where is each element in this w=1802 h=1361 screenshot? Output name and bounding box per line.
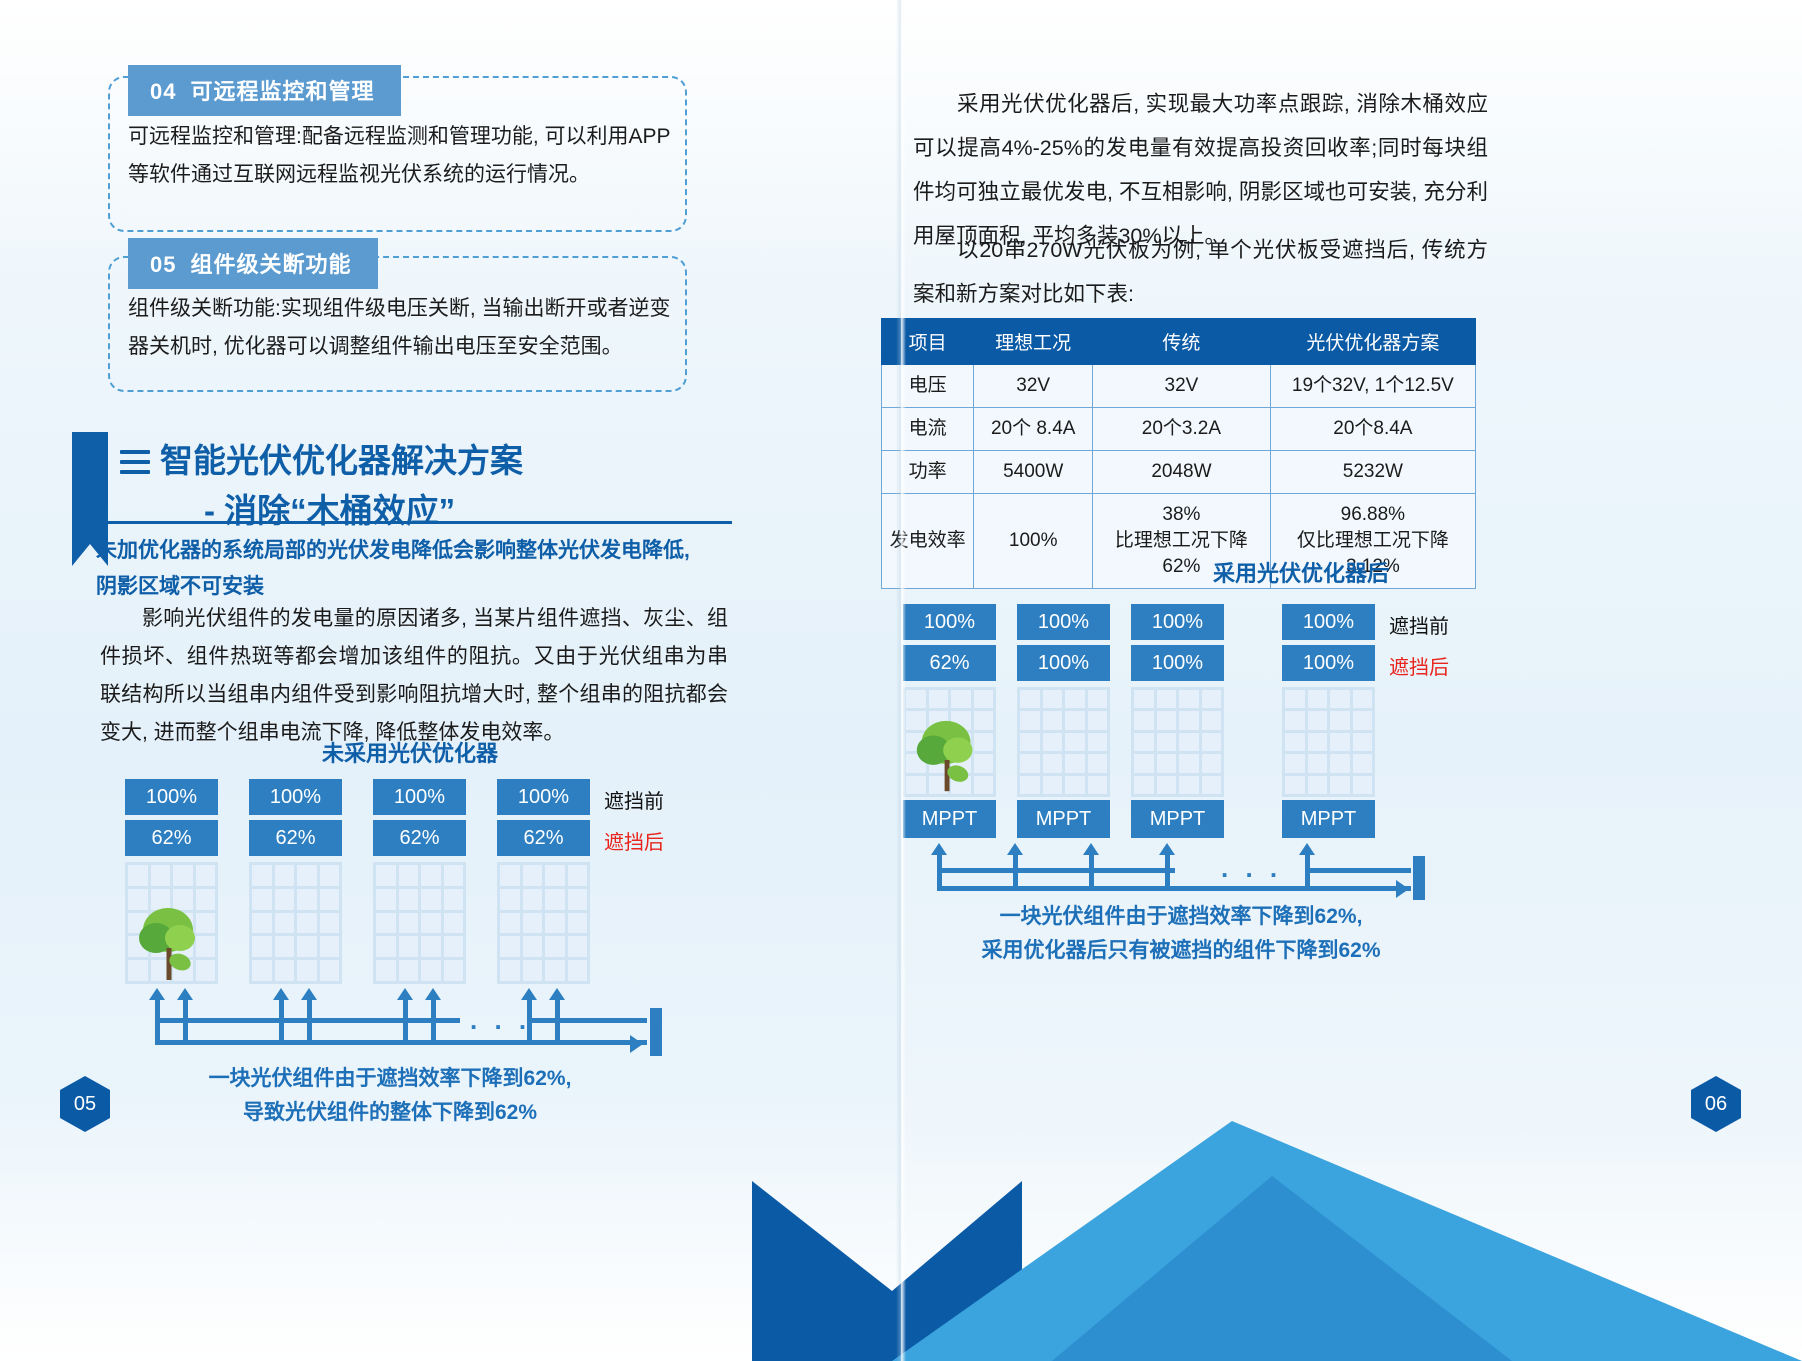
r-chip-before-2: 100% [1017, 604, 1110, 640]
cell-power-traditional: 2048W [1093, 451, 1271, 494]
bus-left-link [155, 1018, 160, 1045]
right-diagram-title: 采用光伏优化器后 [991, 556, 1611, 588]
r-bus-lower [937, 886, 1411, 891]
r-bus-left-link [937, 868, 942, 891]
solar-panel-3 [373, 862, 466, 984]
right-caption-line2: 采用优化器后只有被遮挡的组件下降到62% [901, 934, 1461, 968]
table-header-optimizer: 光伏优化器方案 [1270, 319, 1475, 365]
table-row: 电流 20个 8.4A 20个3.2A 20个8.4A [882, 408, 1476, 451]
right-caption-line1: 一块光伏组件由于遮挡效率下降到62%, [921, 900, 1441, 934]
solar-panel-4 [497, 862, 590, 984]
table-row: 功率 5400W 2048W 5232W [882, 451, 1476, 494]
chip-after-2: 62% [249, 820, 342, 856]
arrow-up-4a [521, 988, 537, 1000]
arrow-up-4b [549, 988, 565, 1000]
feature-card-04-number: 04 [150, 79, 176, 104]
cell-current-optimizer: 20个8.4A [1270, 408, 1475, 451]
cell-current-traditional: 20个3.2A [1093, 408, 1271, 451]
r-arrow-5 [1299, 843, 1315, 855]
section-bar [72, 432, 108, 544]
page-gutter [896, 0, 906, 1361]
cell-voltage-optimizer: 19个32V, 1个12.5V [1270, 365, 1475, 408]
left-caption-line1: 一块光伏组件由于遮挡效率下降到62%, [130, 1062, 650, 1096]
section-paragraph: 影响光伏组件的发电量的原因诸多, 当某片组件遮挡、灰尘、组件损坏、组件热斑等都会… [100, 600, 728, 752]
r-chip-before-1: 100% [903, 604, 996, 640]
r-chip-after-1: 62% [903, 645, 996, 681]
r-bus-upper [937, 868, 1175, 873]
arrow-up-3b [425, 988, 441, 1000]
section-title-line1: 智能光伏优化器解决方案 [160, 434, 523, 482]
bus-upper [155, 1018, 460, 1023]
chip-before-2: 100% [249, 779, 342, 815]
bus-upper-2 [527, 1018, 647, 1023]
section-divider [96, 521, 732, 524]
arrow-up-1b [177, 988, 193, 1000]
arrow-up-1a [149, 988, 165, 1000]
r-bus-upper-2 [1305, 868, 1411, 873]
r-chip-before-3: 100% [1131, 604, 1224, 640]
r-solar-panel-3 [1131, 687, 1224, 797]
table-header-row: 项目 理想工况 传统 光伏优化器方案 [882, 319, 1476, 365]
left-label-after: 遮挡后 [604, 826, 664, 855]
left-diagram-ellipsis: . . . [470, 1005, 531, 1036]
r-arrow-4 [1159, 843, 1175, 855]
left-label-before: 遮挡前 [604, 785, 664, 814]
r-bus-terminal [1413, 856, 1425, 900]
solar-panel-2 [249, 862, 342, 984]
cell-voltage-traditional: 32V [1093, 365, 1271, 408]
table-row: 电压 32V 32V 19个32V, 1个12.5V [882, 365, 1476, 408]
feature-card-04-header: 04可远程监控和管理 [128, 65, 401, 116]
right-diagram-ellipsis: . . . [1221, 853, 1282, 884]
feature-card-05-title: 组件级关断功能 [190, 252, 351, 277]
r-chip-after-4: 100% [1282, 645, 1375, 681]
r-tree-shading-icon [907, 715, 991, 799]
mppt-box-3: MPPT [1131, 800, 1224, 838]
cell-voltage-ideal: 32V [974, 365, 1093, 408]
r-chip-after-3: 100% [1131, 645, 1224, 681]
chip-before-4: 100% [497, 779, 590, 815]
r-solar-panel-4 [1282, 687, 1375, 797]
r-arrow-2 [1007, 843, 1023, 855]
mppt-box-4: MPPT [1282, 800, 1375, 838]
chip-before-1: 100% [125, 779, 218, 815]
arrow-up-3a [397, 988, 413, 1000]
r-chip-before-4: 100% [1282, 604, 1375, 640]
feature-card-04-title: 可远程监控和管理 [190, 79, 374, 104]
chip-after-3: 62% [373, 820, 466, 856]
cell-power-ideal: 5400W [974, 451, 1093, 494]
arrow-up-2a [273, 988, 289, 1000]
r-chip-after-2: 100% [1017, 645, 1110, 681]
table-header-ideal: 理想工况 [974, 319, 1093, 365]
feature-card-05-body: 组件级关断功能:实现组件级电压关断, 当输出断开或者逆变器关机时, 优化器可以调… [128, 290, 673, 366]
cell-power-optimizer: 5232W [1270, 451, 1475, 494]
bus-lower [155, 1040, 647, 1045]
left-diagram-title: 未采用光伏优化器 [160, 736, 660, 768]
feature-card-05-header: 05组件级关断功能 [128, 238, 378, 289]
feature-card-04-body: 可远程监控和管理:配备远程监测和管理功能, 可以利用APP等软件通过互联网远程监… [128, 118, 673, 194]
tree-shading-icon [128, 900, 214, 986]
comparison-table: 项目 理想工况 传统 光伏优化器方案 电压 32V 32V 19个32V, 1个… [881, 318, 1476, 589]
hamburger-icon [120, 450, 150, 480]
mppt-box-1: MPPT [903, 800, 996, 838]
chip-after-4: 62% [497, 820, 590, 856]
r-arrow-1 [931, 843, 947, 855]
bus-terminal [650, 1008, 662, 1056]
chip-after-1: 62% [125, 820, 218, 856]
right-paragraph-2: 以20串270W光伏板为例, 单个光伏板受遮挡后, 传统方案和新方案对比如下表: [913, 228, 1488, 316]
r-bus-arrow-right [1396, 880, 1409, 898]
r-arrow-3 [1083, 843, 1099, 855]
chip-before-3: 100% [373, 779, 466, 815]
section-title-line2: - 消除“木桶效应” [204, 484, 455, 532]
right-label-after: 遮挡后 [1389, 651, 1449, 680]
mppt-box-2: MPPT [1017, 800, 1110, 838]
right-label-before: 遮挡前 [1389, 610, 1449, 639]
left-caption-line2: 导致光伏组件的整体下降到62% [130, 1096, 650, 1130]
decorative-mountain-graphic [752, 1061, 1802, 1361]
r-solar-panel-2 [1017, 687, 1110, 797]
bus-arrow-right [630, 1035, 643, 1053]
arrow-up-2b [301, 988, 317, 1000]
feature-card-05-number: 05 [150, 252, 176, 277]
section-lead-line1: 未加优化器的系统局部的光伏发电降低会影响整体光伏发电降低, [96, 533, 736, 569]
table-header-traditional: 传统 [1093, 319, 1271, 365]
cell-current-ideal: 20个 8.4A [974, 408, 1093, 451]
page-number-left: 05 [60, 1076, 110, 1132]
